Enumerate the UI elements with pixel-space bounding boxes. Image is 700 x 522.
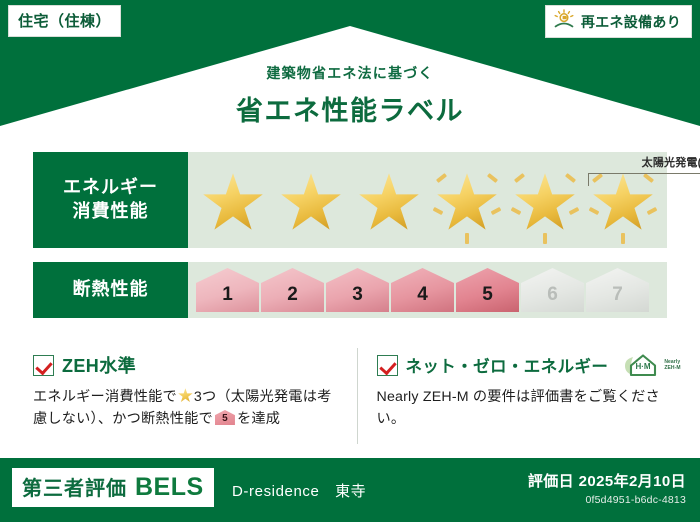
star-icon	[358, 172, 420, 234]
sun-icon	[553, 9, 575, 34]
zeh-m-logo-text: Nearly ZEH-M	[664, 359, 680, 372]
star-icon	[202, 172, 264, 234]
footer-meta: 評価日 2025年2月10日 0f5d4951-b6dc-4813	[528, 470, 686, 506]
bels-badge: 第三者評価 BELS	[12, 468, 214, 507]
level-number: 3	[352, 285, 363, 312]
zeh-m-logo: H·M Nearly ZEH-M	[622, 352, 680, 378]
net-zero-energy-block: ネット・ゼロ・エネルギー H·M Nearly ZEH-M Nearly ZEH…	[357, 340, 700, 452]
inline-house-badge: 5	[215, 410, 235, 425]
star-icon	[592, 172, 654, 234]
insulation-level-2: 2	[261, 268, 324, 312]
zeh-heading: ZEH水準	[33, 352, 339, 378]
evaluation-date: 評価日 2025年2月10日	[528, 470, 686, 491]
inline-star-icon	[178, 388, 193, 403]
level-number: 2	[287, 285, 298, 312]
zeh-title: ZEH水準	[62, 352, 136, 378]
renewable-equipment-badge: 再エネ設備あり	[545, 5, 692, 38]
insulation-level-4: 4	[391, 268, 454, 312]
checkbox-checked-icon	[377, 355, 398, 376]
star-rating	[188, 152, 667, 248]
level-number: 4	[417, 285, 428, 312]
page-title: 省エネ性能ラベル	[0, 89, 700, 128]
title-subtitle: 建築物省エネ法に基づく	[0, 63, 700, 83]
level-number: 7	[612, 285, 623, 312]
insulation-level-1: 1	[196, 268, 259, 312]
star-item	[272, 152, 350, 248]
energy-performance-body: 太陽光発電(自家消費)分	[188, 152, 667, 248]
zeh-m-logo-line1: Nearly	[664, 359, 680, 365]
level-number: 6	[547, 285, 558, 312]
renewable-badge-label: 再エネ設備あり	[581, 12, 681, 32]
nzeb-description: Nearly ZEH-M の要件は評価書をご覧ください。	[377, 386, 683, 430]
insulation-level-3: 3	[326, 268, 389, 312]
star-item-solar	[506, 152, 584, 248]
star-item	[194, 152, 272, 248]
level-number: 1	[222, 285, 233, 312]
bels-jp-label: 第三者評価	[22, 472, 127, 501]
zeh-standard-block: ZEH水準 エネルギー消費性能で3つ（太陽光発電は考慮しない）、かつ断熱性能で5…	[0, 340, 357, 452]
star-icon	[280, 172, 342, 234]
svg-text:H·M: H·M	[636, 362, 651, 371]
energy-label-line1: エネルギー	[63, 176, 158, 200]
zeh-description: エネルギー消費性能で3つ（太陽光発電は考慮しない）、かつ断熱性能で5を達成	[33, 386, 339, 430]
zeh-m-house-icon: H·M	[622, 352, 662, 378]
energy-label-card: 住宅（住棟） 再エネ設備あり 建築物省エネ法に基づく 省エネ性能ラベル	[0, 0, 700, 522]
insulation-level-7: 7	[586, 268, 649, 312]
star-icon	[514, 172, 576, 234]
bels-en-label: BELS	[135, 473, 204, 502]
energy-label-line2: 消費性能	[73, 200, 149, 224]
insulation-level-6: 6	[521, 268, 584, 312]
checkbox-checked-icon	[33, 355, 54, 376]
insulation-level-5: 5	[456, 268, 519, 312]
nzeb-title: ネット・ゼロ・エネルギー	[406, 353, 609, 377]
star-item	[350, 152, 428, 248]
insulation-performance-row: 断熱性能 1 2 3 4 5 6 7	[33, 262, 667, 318]
title-block: 建築物省エネ法に基づく 省エネ性能ラベル	[0, 63, 700, 128]
insulation-performance-body: 1 2 3 4 5 6 7	[188, 262, 667, 318]
insulation-performance-label: 断熱性能	[33, 262, 188, 318]
energy-performance-label: エネルギー 消費性能	[33, 152, 188, 248]
zeh-text-part1: エネルギー消費性能で	[33, 389, 177, 405]
star-item-solar	[428, 152, 506, 248]
zeh-m-logo-line2: ZEH-M	[664, 365, 680, 371]
insulation-level-scale: 1 2 3 4 5 6 7	[188, 262, 667, 318]
info-section: ZEH水準 エネルギー消費性能で3つ（太陽光発電は考慮しない）、かつ断熱性能で5…	[0, 340, 700, 452]
zeh-text-part3: を達成	[237, 411, 280, 427]
footer: 第三者評価 BELS D-residence 東寺 評価日 2025年2月10日…	[0, 460, 700, 522]
inline-house-number: 5	[215, 413, 235, 425]
star-item-solar	[584, 152, 662, 248]
nzeb-heading: ネット・ゼロ・エネルギー H·M Nearly ZEH-M	[377, 352, 683, 378]
energy-performance-row: エネルギー 消費性能	[33, 152, 667, 248]
star-icon	[436, 172, 498, 234]
level-number: 5	[482, 285, 493, 312]
evaluation-id: 0f5d4951-b6dc-4813	[528, 494, 686, 506]
building-type-tag: 住宅（住棟）	[8, 5, 121, 37]
building-name: D-residence 東寺	[232, 480, 366, 501]
